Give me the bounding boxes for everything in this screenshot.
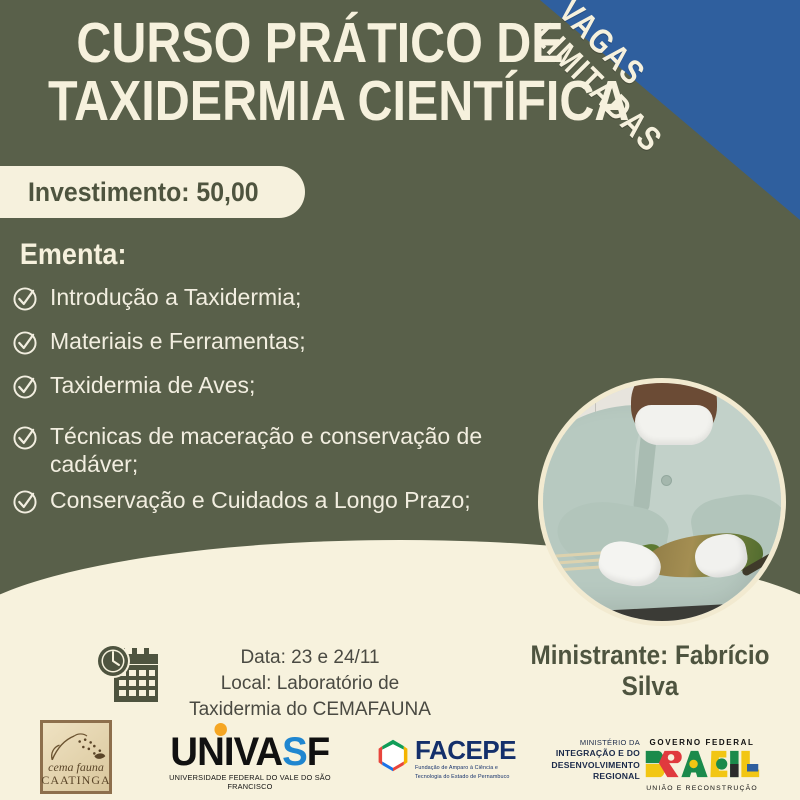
governo-federal-slogan: UNIÃO E RECONSTRUÇÃO [640, 785, 764, 792]
list-item: Técnicas de maceração e conservação de c… [12, 422, 522, 478]
check-circle-icon [12, 425, 38, 451]
ministerio-line-4: REGIONAL [540, 771, 640, 783]
syllabus-heading: Ementa: [14, 238, 132, 272]
instructor-name: Ministrante: Fabrício Silva [515, 640, 785, 702]
ministerio-line-1: MINISTÉRIO DA [540, 738, 640, 748]
page-title: CURSO PRÁTICO DE TAXIDERMIA CIENTÍFICA [0, 14, 640, 130]
list-item-label: Conservação e Cuidados a Longo Prazo; [38, 486, 471, 514]
event-location-line-1: Local: Laboratório de [180, 671, 440, 697]
facepe-logo: FACEPE Fundação de Amparo à Ciência e Te… [375, 738, 516, 780]
price-badge: Investimento: 50,00 [0, 166, 305, 218]
list-item: Taxidermia de Aves; [12, 371, 522, 400]
cemafauna-caatinga-logo: cema fauna CAATINGA [40, 720, 112, 794]
syllabus-list: Introdução a Taxidermia; Materiais e Fer… [12, 283, 522, 530]
taxidermy-photo [538, 378, 786, 626]
univasf-logo: UNIVASF UNIVERSIDADE FEDERAL DO VALE DO … [160, 732, 340, 791]
ministerio-logo: MINISTÉRIO DA INTEGRAÇÃO E DO DESENVOLVI… [540, 738, 640, 783]
governo-federal-label: GOVERNO FEDERAL [640, 738, 764, 747]
calendar-clock-icon [92, 640, 162, 706]
check-circle-icon [12, 286, 38, 312]
title-line-1: CURSO PRÁTICO DE [48, 14, 592, 72]
list-item-label: Taxidermia de Aves; [38, 371, 255, 399]
list-item: Conservação e Cuidados a Longo Prazo; [12, 486, 522, 515]
caatinga-wordmark: CAATINGA [41, 773, 110, 787]
univasf-subtitle: UNIVERSIDADE FEDERAL DO VALE DO SÃO FRAN… [162, 773, 338, 791]
syllabus-heading-label: Ementa: [20, 238, 127, 272]
univasf-mark-s: S [282, 730, 307, 774]
poster-canvas: VAGAS LIMITADAS CURSO PRÁTICO DE TAXIDER… [0, 0, 800, 800]
instructor-label: Ministrante: Fabrício Silva [500, 640, 800, 702]
facepe-wordmark: FACEPE [415, 738, 516, 763]
ministerio-line-3: DESENVOLVIMENTO [540, 760, 640, 772]
facepe-text-block: FACEPE Fundação de Amparo à Ciência e Te… [415, 738, 516, 780]
list-item-label: Introdução a Taxidermia; [38, 283, 301, 311]
list-item-label: Técnicas de maceração e conservação de c… [38, 422, 522, 478]
list-item: Introdução a Taxidermia; [12, 283, 522, 312]
brasil-wordmark-icon [640, 749, 764, 779]
facepe-subtitle-1: Fundação de Amparo à Ciência e [415, 765, 516, 772]
check-circle-icon [12, 374, 38, 400]
photo-face-mask [635, 405, 713, 445]
check-circle-icon [12, 330, 38, 356]
list-item: Materiais e Ferramentas; [12, 327, 522, 356]
sponsor-logos: cema fauna CAATINGA UNIVASF UNIVERSIDADE… [0, 716, 800, 800]
photo-coat-button [661, 475, 672, 486]
governo-federal-logo: GOVERNO FEDERAL UNIÃO E RECONS [640, 738, 764, 792]
photo-scene [543, 383, 781, 621]
facepe-subtitle-2: Tecnologia do Estado de Pernambuco [415, 774, 516, 781]
check-circle-icon [12, 489, 38, 515]
univasf-mark-a: UNIVA [170, 730, 282, 774]
event-date: Data: 23 e 24/11 [180, 645, 440, 671]
ministerio-line-2: INTEGRAÇÃO E DO [540, 748, 640, 760]
price-label: Investimento: 50,00 [28, 177, 259, 208]
facepe-hexagon-icon [375, 738, 411, 774]
univasf-mark-f: F [307, 730, 330, 774]
title-line-2: TAXIDERMIA CIENTÍFICA [48, 72, 592, 130]
event-details: Data: 23 e 24/11 Local: Laboratório de T… [180, 645, 440, 724]
univasf-wordmark: UNIVASF [170, 732, 329, 772]
list-item-label: Materiais e Ferramentas; [38, 327, 306, 355]
cemafauna-bird-icon [43, 727, 109, 767]
